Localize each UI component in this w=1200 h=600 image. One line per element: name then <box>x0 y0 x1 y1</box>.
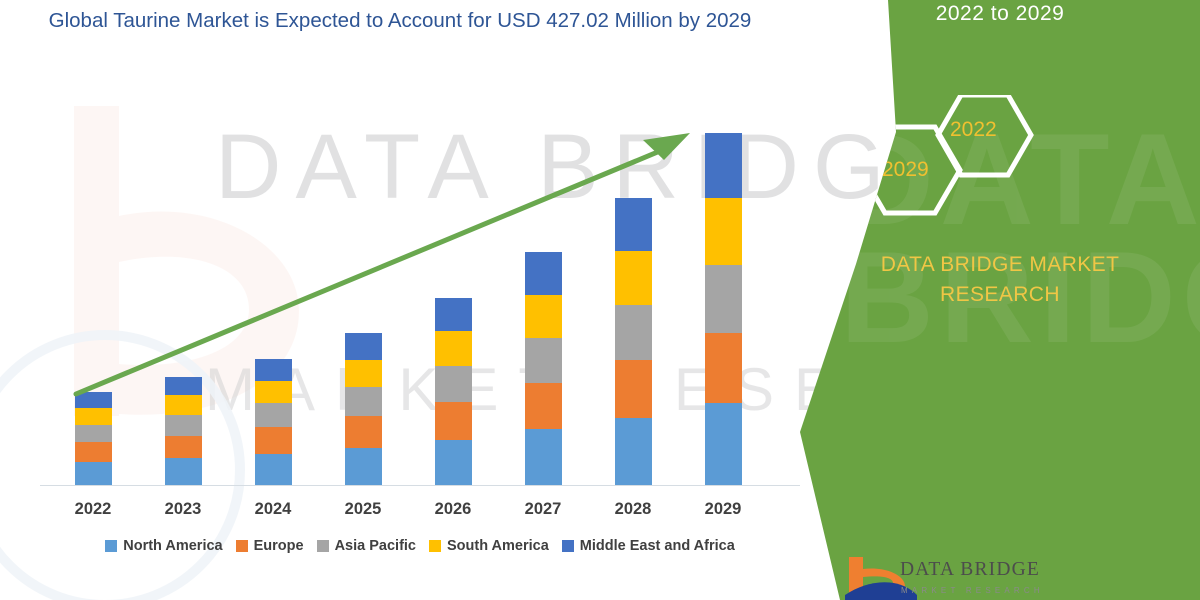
bar-2027 <box>525 252 562 485</box>
brand-line-2: RESEARCH <box>940 283 1060 306</box>
x-axis-label-2023: 2023 <box>138 500 228 519</box>
legend-item[interactable]: North America <box>105 538 222 554</box>
chart-legend: North AmericaEuropeAsia PacificSouth Ame… <box>40 538 800 554</box>
bar-segment <box>165 377 202 395</box>
bar-segment <box>345 448 382 485</box>
bar-segment <box>705 403 742 485</box>
x-axis-label-2022: 2022 <box>48 500 138 519</box>
bar-2026 <box>435 298 472 485</box>
bar-segment <box>615 360 652 417</box>
bar-segment <box>525 338 562 383</box>
legend-label: North America <box>123 538 222 554</box>
legend-item[interactable]: Europe <box>236 538 304 554</box>
bar-2022 <box>75 392 112 485</box>
legend-swatch-icon <box>317 540 329 552</box>
x-axis-label-2025: 2025 <box>318 500 408 519</box>
x-axis-label-2029: 2029 <box>678 500 768 519</box>
legend-label: South America <box>447 538 549 554</box>
hexagon-label-forecast-year: 2022 <box>950 118 997 142</box>
bar-segment <box>435 402 472 440</box>
bar-2029 <box>705 133 742 485</box>
bar-segment <box>345 333 382 360</box>
bar-segment <box>255 359 292 381</box>
bar-segment <box>165 395 202 415</box>
infographic-root: DATA BRIDGE MARKET RESEARCH Global Tauri… <box>0 0 1200 600</box>
bar-segment <box>525 295 562 338</box>
bar-2024 <box>255 359 292 485</box>
bar-segment <box>435 331 472 366</box>
bar-segment <box>75 425 112 443</box>
legend-swatch-icon <box>562 540 574 552</box>
bar-segment <box>345 416 382 447</box>
logo-wordmark: DATA BRIDGE <box>900 559 1040 581</box>
x-axis-label-2024: 2024 <box>228 500 318 519</box>
bar-segment <box>255 454 292 485</box>
bar-segment <box>255 381 292 403</box>
legend-label: Asia Pacific <box>335 538 416 554</box>
bar-segment <box>435 440 472 485</box>
bar-segment <box>525 429 562 485</box>
bar-segment <box>255 427 292 453</box>
bar-segment <box>525 383 562 429</box>
legend-label: Europe <box>254 538 304 554</box>
brand-name: DATA BRIDGE MARKET RESEARCH <box>820 250 1180 310</box>
bar-segment <box>705 133 742 198</box>
bar-segment <box>165 415 202 436</box>
bar-segment <box>435 298 472 331</box>
bar-segment <box>345 387 382 416</box>
bar-segment <box>75 442 112 462</box>
legend-item[interactable]: Middle East and Africa <box>562 538 735 554</box>
bar-segment <box>705 265 742 334</box>
bar-segment <box>705 198 742 264</box>
bar-2023 <box>165 377 202 485</box>
bar-segment <box>165 458 202 485</box>
bar-segment <box>525 252 562 295</box>
x-axis-label-2026: 2026 <box>408 500 498 519</box>
hexagon-label-base-year: 2029 <box>882 158 929 182</box>
chart-baseline <box>40 485 800 486</box>
bar-segment <box>615 198 652 252</box>
legend-label: Middle East and Africa <box>580 538 735 554</box>
bar-segment <box>345 360 382 388</box>
stacked-bar-chart: 20222023202420252026202720282029 <box>0 0 880 600</box>
bar-segment <box>255 403 292 428</box>
legend-item[interactable]: South America <box>429 538 549 554</box>
logo-tagline: MARKET RESEARCH <box>901 586 1044 595</box>
legend-swatch-icon <box>236 540 248 552</box>
legend-swatch-icon <box>105 540 117 552</box>
bar-segment <box>75 462 112 485</box>
bar-segment <box>615 251 652 305</box>
bar-segment <box>165 436 202 458</box>
legend-swatch-icon <box>429 540 441 552</box>
bar-segment <box>435 366 472 402</box>
bar-2028 <box>615 198 652 485</box>
data-bridge-logo: DATA BRIDGE MARKET RESEARCH <box>843 555 1193 600</box>
bar-segment <box>615 418 652 485</box>
bar-segment <box>75 392 112 408</box>
x-axis-label-2028: 2028 <box>588 500 678 519</box>
legend-item[interactable]: Asia Pacific <box>317 538 416 554</box>
chart-panel: Global Taurine Market is Expected to Acc… <box>0 0 880 600</box>
bar-segment <box>75 408 112 424</box>
bar-segment <box>615 305 652 361</box>
bar-2025 <box>345 333 382 485</box>
bar-segment <box>705 333 742 403</box>
x-axis-label-2027: 2027 <box>498 500 588 519</box>
brand-line-1: DATA BRIDGE MARKET <box>881 253 1120 276</box>
